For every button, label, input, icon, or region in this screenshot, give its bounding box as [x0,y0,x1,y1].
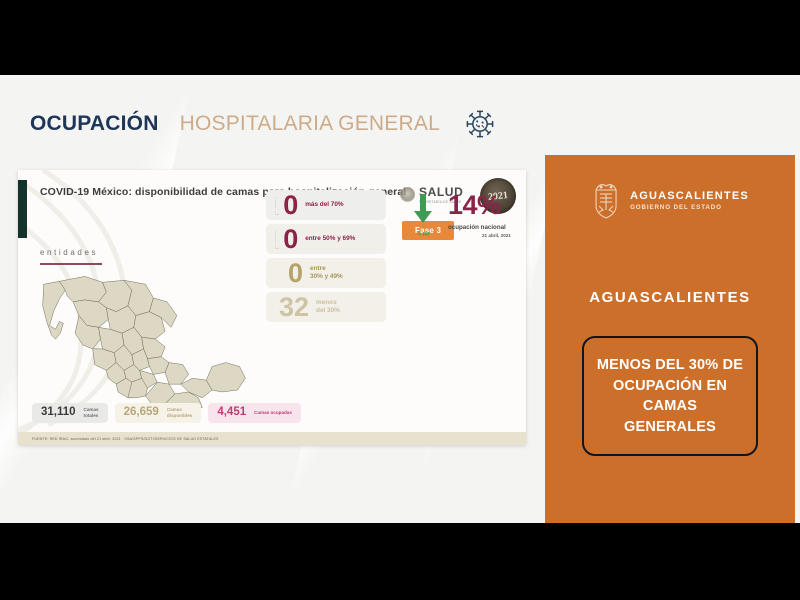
callout-box: MENOS DEL 30% DE OCUPACIÓN EN CAMAS GENE… [582,336,758,456]
stat-row-label: más del 70% [305,201,343,209]
national-percent-block: 14% ocupación nacional [448,192,506,231]
stat-row-label: menos del 30% [316,299,340,315]
stat-row: 0 entre 30% y 49% [266,258,386,288]
bed-value: 31,110 [41,407,76,419]
bed-chip-total: 31,110 Camas totales [32,403,108,423]
stat-row-value: 32 [279,294,309,321]
stat-row: 32 menos del 30% [266,292,386,322]
stat-row-micro-label: e n t i d a d e s [275,229,280,249]
trend-change-label: -1 pp [410,231,436,237]
coat-of-arms-icon [591,182,621,220]
bed-label: Camas ocupadas [254,410,292,416]
slide-footer: FUENTE: RED IRAG, acumulado del 21 abril… [18,432,526,445]
state-panel: AGUASCALIENTES GOBIERNO DEL ESTADO AGUAS… [545,155,795,523]
bed-value: 26,659 [124,407,159,419]
page-title: OCUPACIÓN HOSPITALARIA GENERAL [30,108,496,140]
stat-rows: e n t i d a d e s 0 más del 70% e n t i … [266,190,386,326]
source-credit: FUENTE: RED IRAG, acumulado del 21 abril… [32,437,219,441]
government-name: AGUASCALIENTES [630,191,749,203]
bed-value: 4,451 [217,407,246,419]
bed-label: Camas totales [84,407,99,419]
bed-summary-bar: 31,110 Camas totales 26,659 Camas dispon… [32,403,301,423]
national-percent-value: 14% [448,192,506,219]
government-logo: AGUASCALIENTES GOBIERNO DEL ESTADO [591,182,749,220]
entidades-underline [40,263,102,265]
stat-row: e n t i d a d e s 0 más del 70% [266,190,386,220]
content-band: OCUPACIÓN HOSPITALARIA GENERAL [0,75,800,523]
stat-row-micro-label: e n t i d a d e s [275,195,280,215]
stat-row-label: entre 50% y 69% [305,235,355,243]
stat-row-value: 0 [283,226,298,253]
slide-card: COVID-19 México: disponibilidad de camas… [18,170,526,445]
screenshot-stage: OCUPACIÓN HOSPITALARIA GENERAL [0,0,800,600]
state-name-heading: AGUASCALIENTES [545,289,795,306]
headline-strong: OCUPACIÓN [30,112,159,136]
bed-label: Camas disponibles [167,407,193,419]
government-subtitle: GOBIERNO DEL ESTADO [630,205,749,212]
mexico-map [30,268,265,418]
coronavirus-icon [464,108,496,140]
accent-bar [18,180,27,238]
national-occupancy-block: -1 pp 14% ocupación nacional [410,192,506,237]
stat-row-value: 0 [288,260,303,287]
slide-region: OCUPACIÓN HOSPITALARIA GENERAL [0,75,544,523]
stat-row: e n t i d a d e s 0 entre 50% y 69% [266,224,386,254]
bed-chip-occupied: 4,451 Camas ocupadas [208,403,301,423]
bed-chip-available: 26,659 Camas disponibles [115,403,202,423]
entidades-label: entidades [40,248,98,257]
national-percent-label: ocupación nacional [448,224,506,231]
headline-light: HOSPITALARIA GENERAL [180,112,440,136]
callout-text: MENOS DEL 30% DE OCUPACIÓN EN CAMAS GENE… [596,355,744,437]
stat-row-label: entre 30% y 49% [310,265,343,281]
down-arrow-icon [413,194,433,224]
stat-row-value: 0 [283,192,298,219]
trend-indicator: -1 pp [410,192,436,237]
